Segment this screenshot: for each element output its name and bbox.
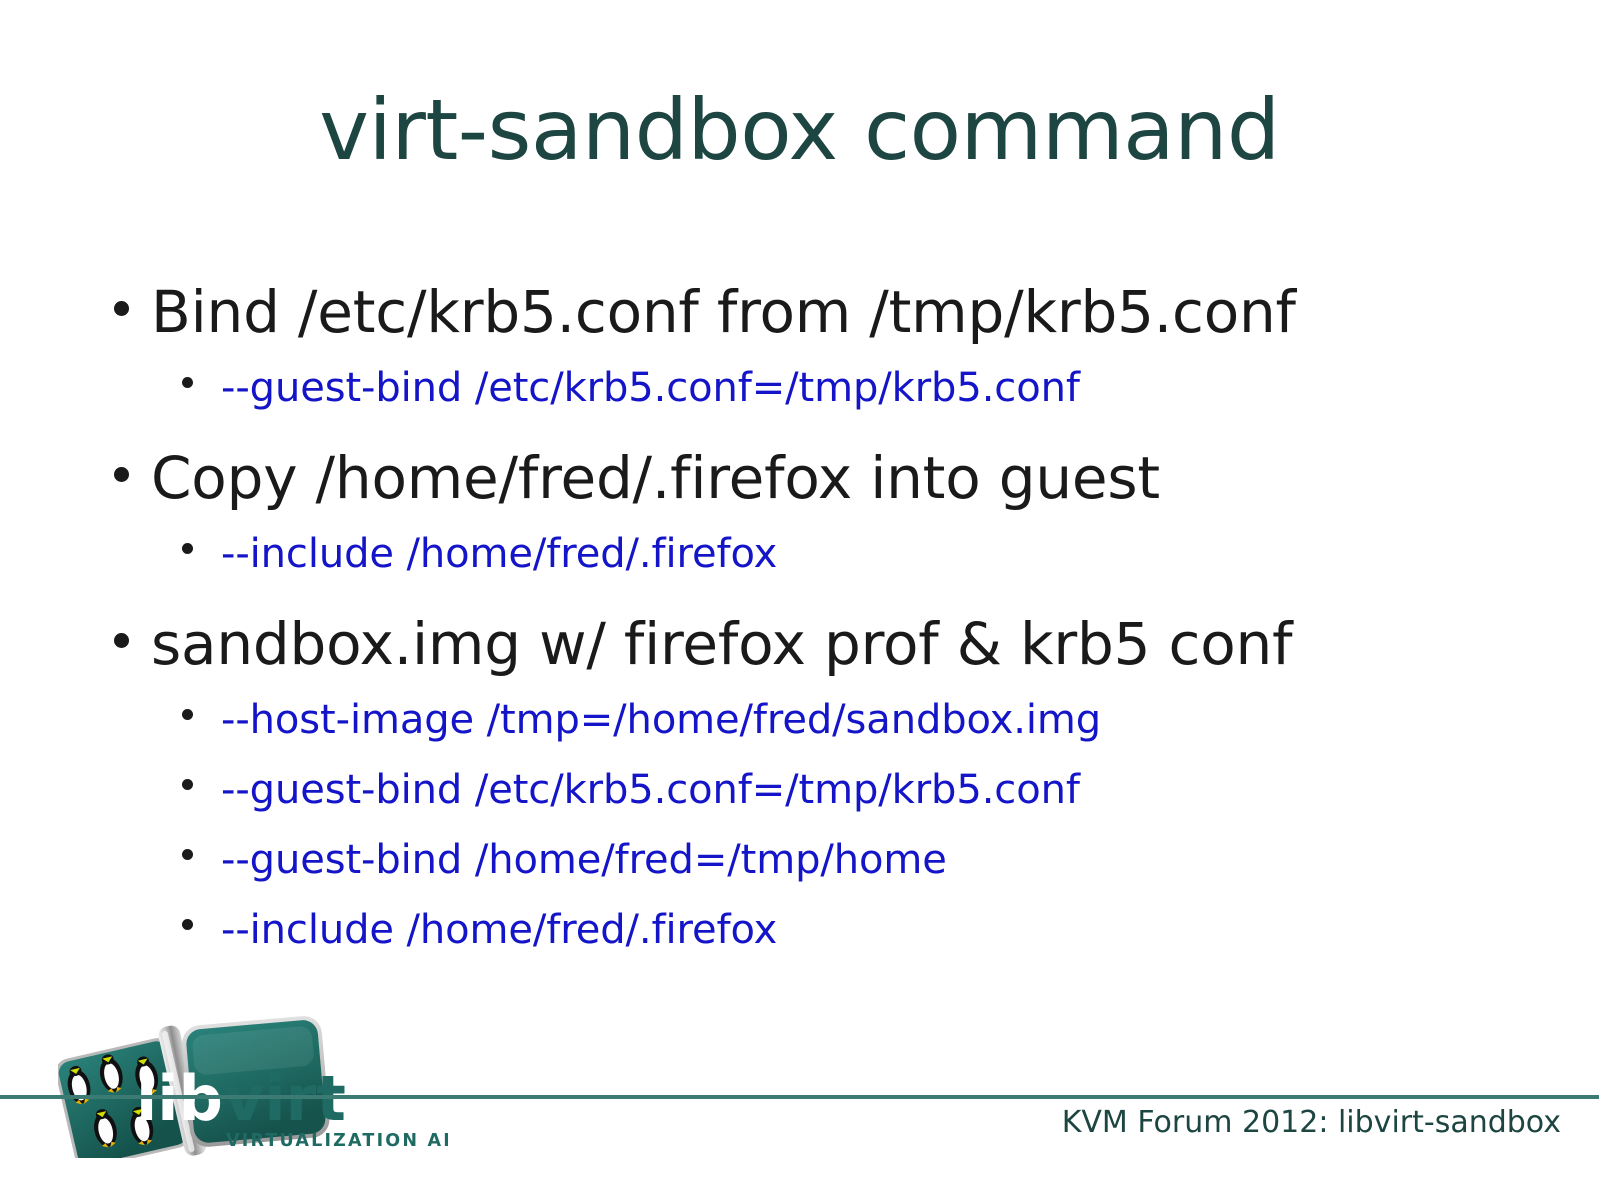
sub-bullet-marker-icon — [104, 762, 221, 818]
group-spacer — [104, 424, 1524, 438]
group-spacer — [104, 590, 1524, 604]
sub-bullet-marker-icon — [104, 692, 221, 748]
bullet-level2-label: --host-image /tmp=/home/fred/sandbox.img — [221, 692, 1524, 748]
libvirt-logo: lib virt VIRTUALIZATION API — [58, 1008, 448, 1158]
footer-divider — [0, 1095, 1599, 1099]
slide: virt-sandbox command Bind /etc/krb5.conf… — [0, 0, 1599, 1199]
bullet-level2: --include /home/fred/.firefox — [104, 526, 1524, 586]
sub-bullet-marker-icon — [104, 360, 221, 416]
bullet-level2: --guest-bind /etc/krb5.conf=/tmp/krb5.co… — [104, 360, 1524, 420]
bullet-marker-icon — [104, 272, 151, 350]
bullet-level1: Bind /etc/krb5.conf from /tmp/krb5.conf — [104, 272, 1524, 356]
bullet-level1: Copy /home/fred/.firefox into guest — [104, 438, 1524, 522]
libvirt-logo-graphic: lib virt VIRTUALIZATION API — [58, 1008, 448, 1158]
bullet-marker-icon — [104, 604, 151, 682]
bullet-level1-label: Bind /etc/krb5.conf from /tmp/krb5.conf — [151, 272, 1524, 352]
bullet-level2-label: --guest-bind /etc/krb5.conf=/tmp/krb5.co… — [221, 360, 1524, 416]
bullet-level2: --host-image /tmp=/home/fred/sandbox.img — [104, 692, 1524, 752]
bullet-marker-icon — [104, 438, 151, 516]
bullet-level2-label: --guest-bind /etc/krb5.conf=/tmp/krb5.co… — [221, 762, 1524, 818]
bullet-level2: --guest-bind /home/fred=/tmp/home — [104, 832, 1524, 892]
footer-label: KVM Forum 2012: libvirt-sandbox — [1062, 1103, 1561, 1143]
bullet-level2-label: --guest-bind /home/fred=/tmp/home — [221, 832, 1524, 888]
bullet-list: Bind /etc/krb5.conf from /tmp/krb5.conf … — [104, 272, 1524, 972]
sub-bullet-marker-icon — [104, 832, 221, 888]
sub-bullet-marker-icon — [104, 902, 221, 958]
bullet-group: sandbox.img w/ firefox prof & krb5 conf … — [104, 604, 1524, 962]
bullet-level1: sandbox.img w/ firefox prof & krb5 conf — [104, 604, 1524, 688]
bullet-level2: --include /home/fred/.firefox — [104, 902, 1524, 962]
bullet-level2-label: --include /home/fred/.firefox — [221, 902, 1524, 958]
bullet-level1-label: Copy /home/fred/.firefox into guest — [151, 438, 1524, 518]
logo-tagline: VIRTUALIZATION API — [226, 1131, 448, 1151]
bullet-level2-label: --include /home/fred/.firefox — [221, 526, 1524, 582]
bullet-group: Bind /etc/krb5.conf from /tmp/krb5.conf … — [104, 272, 1524, 420]
bullet-level2: --guest-bind /etc/krb5.conf=/tmp/krb5.co… — [104, 762, 1524, 822]
bullet-level1-label: sandbox.img w/ firefox prof & krb5 conf — [151, 604, 1524, 684]
page-title: virt-sandbox command — [0, 88, 1599, 172]
sub-bullet-marker-icon — [104, 526, 221, 582]
bullet-group: Copy /home/fred/.firefox into guest --in… — [104, 438, 1524, 586]
